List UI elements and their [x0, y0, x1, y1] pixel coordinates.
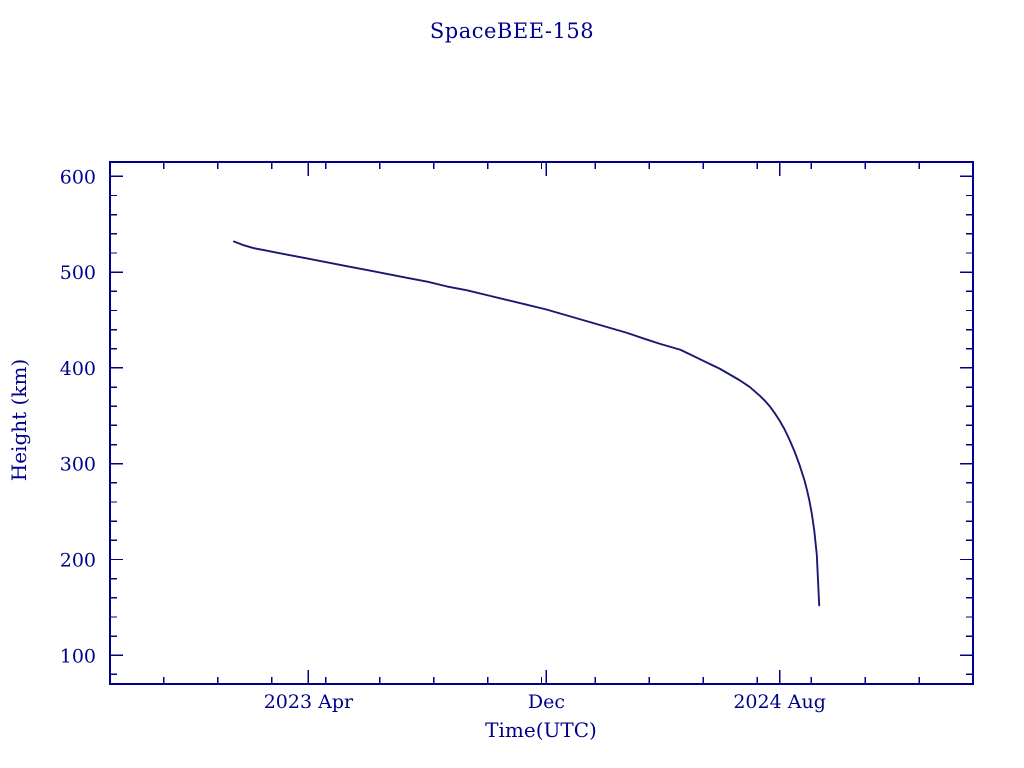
x-tick-label: 2024 Aug: [733, 691, 826, 713]
page-title: SpaceBEE-158: [430, 19, 594, 43]
x-axis-tick-labels: 2023 AprDec2024 Aug: [264, 691, 826, 713]
x-tick-label: Dec: [528, 691, 565, 713]
x-tick-label: 2023 Apr: [264, 691, 354, 713]
x-axis-title: Time(UTC): [485, 718, 597, 742]
chart-figure: SpaceBEE-158 600500400300200100 2023 Apr…: [0, 0, 1024, 768]
y-axis-title: Height (km): [7, 359, 31, 481]
y-tick-label: 500: [60, 262, 96, 284]
y-tick-label: 400: [60, 358, 96, 380]
y-tick-label: 100: [60, 645, 96, 667]
y-tick-label: 300: [60, 454, 96, 476]
y-tick-label: 200: [60, 549, 96, 571]
y-tick-label: 600: [60, 166, 96, 188]
figure-background: [0, 0, 1024, 768]
